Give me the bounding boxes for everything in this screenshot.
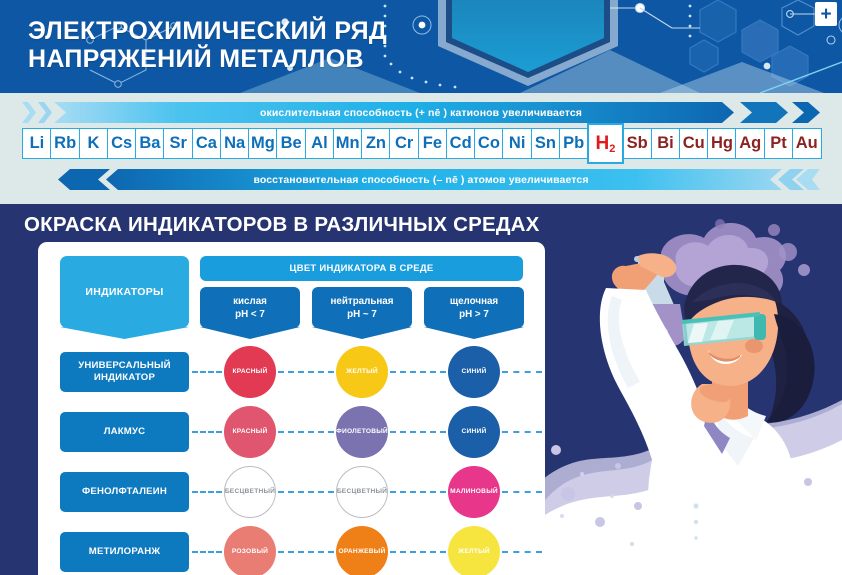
element-symbol: Sr [169, 134, 186, 153]
element-symbol: Pt [770, 134, 787, 153]
connector-dashes [502, 371, 542, 373]
element-cell-Cd: Cd [446, 128, 476, 159]
element-cell-Mg: Mg [248, 128, 278, 159]
element-cell-Mn: Mn [333, 128, 363, 159]
connector-dashes [502, 551, 542, 553]
neutral-header-notch [312, 327, 412, 339]
element-cell-Al: Al [305, 128, 335, 159]
element-cell-Cu: Cu [679, 128, 709, 159]
oxidizing-arrow-band: окислительная способность (+ nē ) катион… [22, 102, 820, 123]
element-symbol: Ca [196, 134, 217, 153]
table-span-header: ЦВЕТ ИНДИКАТОРА В СРЕДЕ [200, 256, 523, 281]
row-indicator-label[interactable]: МЕТИЛОРАНЖ [60, 532, 189, 572]
connector-dashes [278, 491, 334, 493]
element-symbol: Zn [366, 134, 386, 153]
element-cell-Sr: Sr [163, 128, 193, 159]
element-cell-Pt: Pt [764, 128, 794, 159]
element-symbol: Na [224, 134, 245, 153]
element-symbol: Cu [683, 134, 705, 153]
row-indicator-label[interactable]: УНИВЕРСАЛЬНЫЙ ИНДИКАТОР [60, 352, 189, 392]
element-cell-Sn: Sn [531, 128, 561, 159]
element-symbol: Mn [336, 134, 360, 153]
color-bubble[interactable]: ОРАНЖЕВЫЙ [336, 526, 388, 575]
element-cell-Li: Li [22, 128, 52, 159]
table-row: МЕТИЛОРАНЖРОЗОВЫЙОРАНЖЕВЫЙЖЕЛТЫЙ [38, 522, 545, 575]
color-bubble[interactable]: ФИОЛЕТОВЫЙ [336, 406, 388, 458]
medical-cross-icon[interactable]: + [815, 2, 837, 26]
column-header-alkaline-name: щелочная [450, 295, 498, 308]
column-header-alkaline: щелочная pH > 7 [424, 287, 524, 328]
column-header-neutral: нейтральная pH ~ 7 [312, 287, 412, 328]
element-symbol: H2 [596, 133, 616, 155]
connector-dashes [390, 491, 446, 493]
acidic-header-notch [200, 327, 300, 339]
connector-dashes [502, 431, 542, 433]
table-row: ФЕНОЛФТАЛЕИНБЕСЦВЕТНЫЙБЕСЦВЕТНЫЙМАЛИНОВЫ… [38, 462, 545, 522]
element-symbol: Ni [509, 134, 526, 153]
element-symbol: Co [478, 134, 500, 153]
element-cell-Hg: Hg [707, 128, 737, 159]
connector-dashes [390, 431, 446, 433]
element-symbol: Cs [111, 134, 132, 153]
poster-header: ЭЛЕКТРОХИМИЧЕСКИЙ РЯД НАПРЯЖЕНИЙ МЕТАЛЛО… [0, 0, 842, 93]
element-cell-Cs: Cs [107, 128, 137, 159]
element-cell-Fe: Fe [418, 128, 448, 159]
column-header-neutral-ph: pH ~ 7 [347, 308, 377, 321]
element-cell-Ba: Ba [135, 128, 165, 159]
poster-root: ЭЛЕКТРОХИМИЧЕСКИЙ РЯД НАПРЯЖЕНИЙ МЕТАЛЛО… [0, 0, 842, 575]
connector-dashes [502, 491, 542, 493]
element-symbol: Cd [450, 134, 472, 153]
element-cell-Bi: Bi [651, 128, 681, 159]
alkaline-header-notch [424, 327, 524, 339]
page-title: ЭЛЕКТРОХИМИЧЕСКИЙ РЯД НАПРЯЖЕНИЙ МЕТАЛЛО… [28, 17, 387, 73]
connector-dashes [390, 371, 446, 373]
color-bubble[interactable]: РОЗОВЫЙ [224, 526, 276, 575]
color-bubble[interactable]: БЕСЦВЕТНЫЙ [224, 466, 276, 518]
element-symbol: Rb [54, 134, 76, 153]
metal-elements-row: LiRbKCsBaSrCaNaMgBeAlMnZnCrFeCdCoNiSnPbH… [22, 127, 820, 160]
scientist-illustration [542, 204, 842, 575]
element-cell-Zn: Zn [361, 128, 391, 159]
element-cell-Ni: Ni [502, 128, 532, 159]
connector-dashes [192, 491, 222, 493]
table-corner-header-label: ИНДИКАТОРЫ [85, 286, 163, 298]
element-symbol: Li [30, 134, 45, 153]
element-symbol: Al [311, 134, 328, 153]
color-bubble[interactable]: СИНИЙ [448, 406, 500, 458]
element-symbol: Ba [139, 134, 160, 153]
element-cell-Sb: Sb [622, 128, 652, 159]
element-symbol: Au [796, 134, 818, 153]
element-cell-Ag: Ag [735, 128, 765, 159]
element-symbol: Be [281, 134, 302, 153]
plus-glyph: + [820, 5, 831, 24]
color-bubble[interactable]: ЖЕЛТЫЙ [448, 526, 500, 575]
indicators-section: ОКРАСКА ИНДИКАТОРОВ В РАЗЛИЧНЫХ СРЕДАХ И… [0, 204, 842, 575]
color-bubble[interactable]: ЖЕЛТЫЙ [336, 346, 388, 398]
element-symbol: Sb [627, 134, 648, 153]
element-cell-Au: Au [792, 128, 822, 159]
element-cell-Ca: Ca [192, 128, 222, 159]
corner-header-notch [60, 327, 189, 339]
color-bubble[interactable]: МАЛИНОВЫЙ [448, 466, 500, 518]
element-cell-K: K [79, 128, 109, 159]
connector-dashes [278, 431, 334, 433]
element-symbol: Mg [251, 134, 275, 153]
connector-dashes [278, 551, 334, 553]
element-subscript: 2 [609, 143, 615, 155]
column-header-acidic-name: кислая [233, 295, 267, 308]
element-cell-Co: Co [474, 128, 504, 159]
color-bubble[interactable]: СИНИЙ [448, 346, 500, 398]
element-symbol: K [87, 134, 99, 153]
element-cell-Rb: Rb [50, 128, 80, 159]
element-symbol: Cr [395, 134, 413, 153]
column-header-acidic-ph: pH < 7 [235, 308, 265, 321]
color-bubble[interactable]: БЕСЦВЕТНЫЙ [336, 466, 388, 518]
color-bubble[interactable]: КРАСНЫЙ [224, 406, 276, 458]
connector-dashes [192, 431, 222, 433]
element-symbol: Pb [563, 134, 584, 153]
element-symbol: Bi [657, 134, 674, 153]
element-symbol: Ag [739, 134, 761, 153]
table-row: ЛАКМУСКРАСНЫЙФИОЛЕТОВЫЙСИНИЙ [38, 402, 545, 462]
element-symbol: Hg [711, 134, 733, 153]
connector-dashes [192, 551, 222, 553]
element-symbol: Fe [423, 134, 442, 153]
column-header-acidic: кислая pH < 7 [200, 287, 300, 328]
indicators-table-card: ИНДИКАТОРЫ ЦВЕТ ИНДИКАТОРА В СРЕДЕ кисла… [38, 242, 545, 575]
connector-dashes [390, 551, 446, 553]
row-indicator-label[interactable]: ФЕНОЛФТАЛЕИН [60, 472, 189, 512]
element-cell-Pb: Pb [559, 128, 589, 159]
activity-series-band: окислительная способность (+ nē ) катион… [0, 93, 842, 204]
element-symbol: Sn [535, 134, 556, 153]
color-bubble[interactable]: КРАСНЫЙ [224, 346, 276, 398]
connector-dashes [192, 371, 222, 373]
table-corner-header: ИНДИКАТОРЫ [60, 256, 189, 328]
connector-dashes [278, 371, 334, 373]
element-cell-Na: Na [220, 128, 250, 159]
column-header-alkaline-ph: pH > 7 [459, 308, 489, 321]
column-header-neutral-name: нейтральная [331, 295, 394, 308]
section-title: ОКРАСКА ИНДИКАТОРОВ В РАЗЛИЧНЫХ СРЕДАХ [24, 213, 540, 237]
element-cell-Cr: Cr [389, 128, 419, 159]
element-cell-Be: Be [276, 128, 306, 159]
reducing-arrow-band: восстановительная способность (– nē ) ат… [22, 169, 820, 190]
row-indicator-label[interactable]: ЛАКМУС [60, 412, 189, 452]
element-cell-H2: H2 [587, 123, 624, 164]
table-row: УНИВЕРСАЛЬНЫЙ ИНДИКАТОРКРАСНЫЙЖЕЛТЫЙСИНИ… [38, 342, 545, 402]
